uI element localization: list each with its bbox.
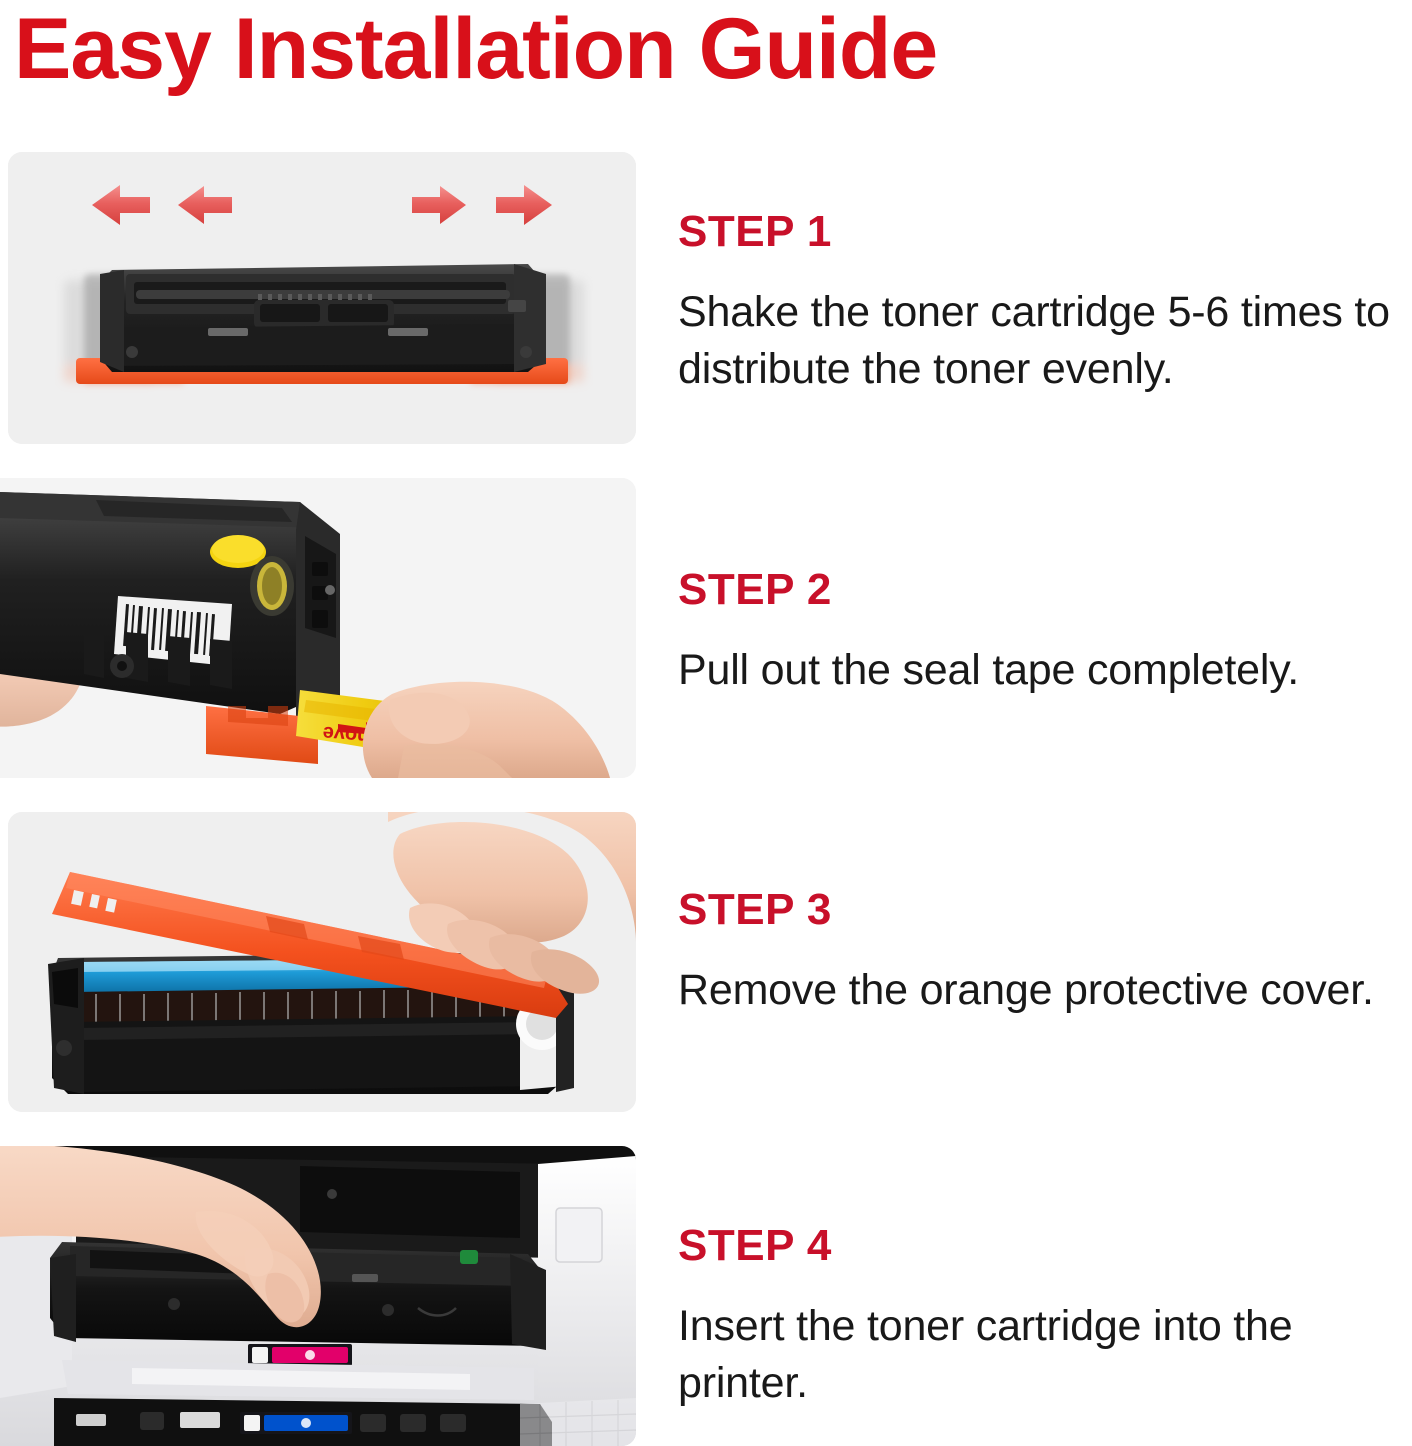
remove-orange-cover-illustration [8, 812, 636, 1112]
step-3-label: STEP 3 [678, 888, 1404, 932]
step-3-illustration-panel [8, 812, 636, 1112]
step-3-text-column: STEP 3 Remove the orange protective cove… [678, 888, 1404, 1019]
step-2-label: STEP 2 [678, 568, 1404, 612]
toner-port [250, 556, 294, 616]
step-1-body: Shake the toner cartridge 5-6 times to d… [678, 284, 1404, 398]
step-3-body: Remove the orange protective cover. [678, 962, 1404, 1019]
step-4-label: STEP 4 [678, 1224, 1404, 1268]
step-2-illustration-panel: Remove [0, 478, 636, 778]
green-chip [460, 1250, 478, 1264]
step-1-illustration-panel [8, 152, 636, 444]
insert-cartridge-illustration [0, 1146, 636, 1446]
step-4-text-column: STEP 4 Insert the toner cartridge into t… [678, 1224, 1404, 1412]
step-4-body: Insert the toner cartridge into the prin… [678, 1298, 1404, 1412]
step-4-illustration-panel [0, 1146, 636, 1446]
pull-seal-tape-illustration: Remove [0, 478, 636, 778]
page-title: Easy Installation Guide [14, 0, 937, 104]
step-1-text-column: STEP 1 Shake the toner cartridge 5-6 tim… [678, 210, 1404, 398]
paper-tray-grid [520, 1398, 636, 1446]
shake-cartridge-illustration [8, 152, 636, 444]
toner-cartridge-body [100, 264, 546, 372]
step-2-text-column: STEP 2 Pull out the seal tape completely… [678, 568, 1404, 699]
step-2-body: Pull out the seal tape completely. [678, 642, 1404, 699]
installation-guide-page: Easy Installation Guide [0, 0, 1412, 1446]
step-1-label: STEP 1 [678, 210, 1404, 254]
magenta-color-label [248, 1344, 352, 1366]
cyan-color-label [240, 1412, 352, 1434]
